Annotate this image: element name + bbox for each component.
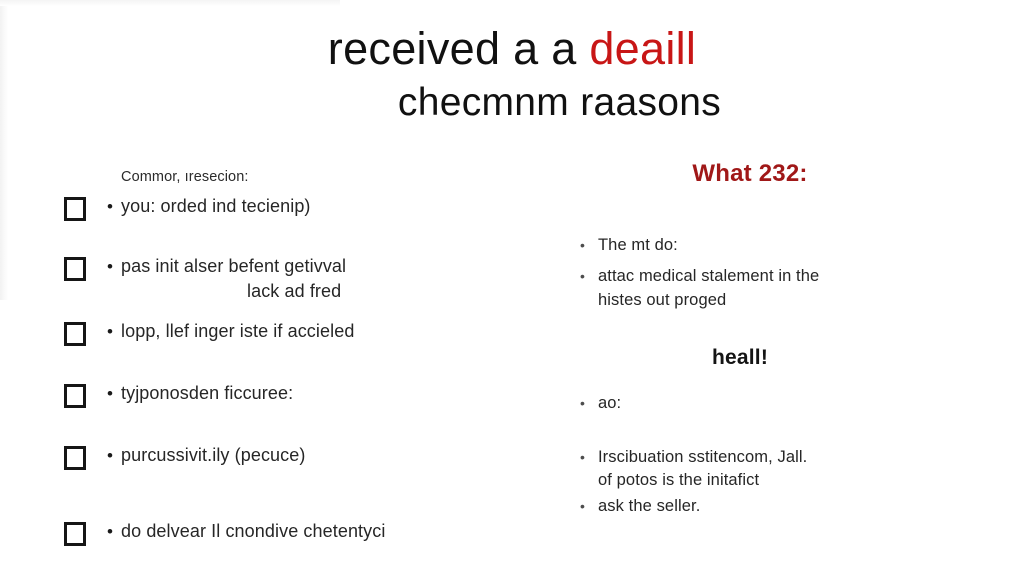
right-list-item-label: ao:: [598, 392, 621, 415]
checklist-item-label: tyjponosden ficcuree:: [121, 382, 293, 405]
empty-checkbox-icon[interactable]: [64, 522, 86, 546]
bullet-icon: •: [107, 523, 121, 540]
spacer: [580, 416, 980, 446]
right-list-item-continuation: of potos is the initafict: [580, 469, 980, 492]
right-list-item: • ao:: [580, 392, 980, 415]
checklist-item[interactable]: • lopp, llef inger iste if accieled: [55, 320, 525, 354]
checklist-item-body: • pas init alser befent getivval lack ad…: [107, 255, 525, 304]
checklist-item-body: • tyjponosden ficcuree:: [107, 382, 525, 405]
checklist-item-label: pas init alser befent getivval: [121, 255, 346, 278]
right-list-item: • Irscibuation sstitencom, Jall.: [580, 446, 980, 469]
bullet-icon: •: [107, 258, 121, 275]
checklist-item[interactable]: • you: orded ind tecienip): [55, 195, 525, 229]
checklist: • you: orded ind tecienip) • pas init al…: [55, 195, 525, 554]
empty-checkbox-icon[interactable]: [64, 197, 86, 221]
slide-title: received a a deaill checmnm raasons: [0, 22, 1024, 126]
checklist-item-subline: lack ad fred: [107, 278, 525, 304]
right-list-item-label: ask the seller.: [598, 495, 700, 518]
right-group-one: • The mt do: • attac medical stalement i…: [580, 234, 980, 312]
bullet-icon: •: [107, 385, 121, 402]
checklist-item-label: lopp, llef inger iste if accieled: [121, 320, 354, 343]
empty-checkbox-icon[interactable]: [64, 446, 86, 470]
bullet-icon: •: [580, 238, 598, 252]
title-line-one: received a a deaill: [0, 22, 1024, 75]
empty-checkbox-icon[interactable]: [64, 384, 86, 408]
right-list-item: • The mt do:: [580, 234, 980, 257]
bullet-icon: •: [580, 499, 598, 513]
slide-canvas: received a a deaill checmnm raasons Comm…: [0, 0, 1024, 585]
spacer: [580, 257, 980, 265]
bullet-icon: •: [107, 447, 121, 464]
title-line-two: checmnm raasons: [0, 80, 1024, 126]
checklist-item-label: do delvear Il cnondive chetentyci: [121, 520, 385, 543]
top-edge-tint: [0, 0, 340, 6]
checklist-item-label: you: orded ind tecienip): [121, 195, 311, 218]
bullet-icon: •: [107, 323, 121, 340]
bullet-icon: •: [580, 396, 598, 410]
checklist-item[interactable]: • do delvear Il cnondive chetentyci: [55, 520, 525, 554]
bullet-icon: •: [580, 450, 598, 464]
checklist-item-body: • do delvear Il cnondive chetentyci: [107, 520, 525, 543]
right-column-heading: What 232:: [580, 160, 980, 188]
checklist-item[interactable]: • pas init alser befent getivval lack ad…: [55, 255, 525, 304]
spacer: [580, 188, 980, 234]
checklist-item[interactable]: • tyjponosden ficcuree:: [55, 382, 525, 416]
spacer: [580, 370, 980, 392]
right-list-item-label: The mt do:: [598, 234, 678, 257]
bullet-icon: •: [580, 269, 598, 283]
checklist-item-body: • lopp, llef inger iste if accieled: [107, 320, 525, 343]
spacer: [580, 312, 980, 346]
bullet-icon: •: [107, 198, 121, 215]
title-accent-word: deaill: [589, 23, 696, 74]
right-list-item-label: attac medical stalement in the: [598, 265, 819, 288]
right-column: What 232: • The mt do: • attac medical s…: [580, 160, 980, 518]
right-list-item: • attac medical stalement in the: [580, 265, 980, 288]
title-line-one-plain: received a a: [328, 23, 590, 74]
checklist-item-body: • purcussivit.ily (pecuce): [107, 444, 525, 467]
checklist-item-label: purcussivit.ily (pecuce): [121, 444, 305, 467]
checklist-item[interactable]: • purcussivit.ily (pecuce): [55, 444, 525, 478]
right-list-item-continuation: histes out proged: [580, 289, 980, 312]
empty-checkbox-icon[interactable]: [64, 322, 86, 346]
empty-checkbox-icon[interactable]: [64, 257, 86, 281]
right-group-two: • ao: • Irscibuation sstitencom, Jall. o…: [580, 392, 980, 518]
right-column-sub-heading: heall!: [580, 346, 980, 370]
checklist-item-body: • you: orded ind tecienip): [107, 195, 525, 218]
left-column-heading: Commor, ıresecion:: [121, 169, 249, 185]
right-list-item: • ask the seller.: [580, 495, 980, 518]
right-list-item-label: Irscibuation sstitencom, Jall.: [598, 446, 807, 469]
